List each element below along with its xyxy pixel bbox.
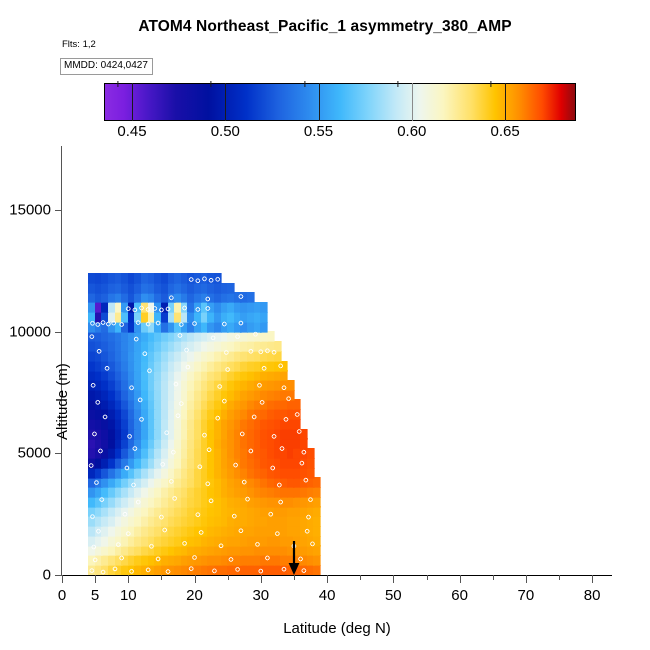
y-tick-label-5000: 5000	[18, 445, 51, 462]
x-minor-tick-25	[228, 575, 229, 580]
x-tick-label-60: 60	[451, 587, 468, 604]
x-tick-label-10: 10	[120, 587, 137, 604]
heatmap-grid	[62, 147, 612, 575]
x-tick-0	[62, 575, 63, 583]
x-minor-tick-55	[427, 575, 428, 580]
x-tick-30	[261, 575, 262, 583]
x-tick-label-40: 40	[319, 587, 336, 604]
colorbar-tick-0.55	[319, 83, 320, 121]
colorbar-label-0.60: 0.60	[397, 123, 426, 140]
x-tick-40	[327, 575, 328, 583]
colorbar-tick-0.65	[505, 83, 506, 121]
x-minor-tick-65	[493, 575, 494, 580]
mmdd-annotation: MMDD: 0424,0427	[60, 58, 153, 75]
y-tick-10000	[55, 332, 62, 333]
chart-title: ATOM4 Northeast_Pacific_1 asymmetry_380_…	[0, 18, 650, 36]
x-tick-70	[526, 575, 527, 583]
y-tick-label-0: 0	[43, 567, 51, 584]
x-tick-label-70: 70	[518, 587, 535, 604]
y-tick-0	[55, 575, 62, 576]
x-minor-tick-45	[360, 575, 361, 580]
latitude-arrow-marker	[288, 541, 300, 575]
heatmap-canvas	[62, 147, 612, 575]
x-tick-20	[195, 575, 196, 583]
colorbar-label-0.45: 0.45	[117, 123, 146, 140]
y-axis-label: Altitude (m)	[54, 363, 71, 440]
colorbar-label-0.55: 0.55	[304, 123, 333, 140]
x-tick-label-20: 20	[186, 587, 203, 604]
colorbar-tick-0.60	[412, 83, 413, 121]
x-tick-5	[95, 575, 96, 583]
y-tick-15000	[55, 210, 62, 211]
colorbar-tick-labels: 0.450.500.550.600.65	[104, 123, 576, 145]
colorbar-label-0.50: 0.50	[211, 123, 240, 140]
x-tick-label-30: 30	[252, 587, 269, 604]
colorbar-tick-0.45	[132, 83, 133, 121]
y-tick-label-10000: 10000	[9, 323, 51, 340]
x-minor-tick-75	[559, 575, 560, 580]
colorbar-tick-0.50	[225, 83, 226, 121]
x-tick-label-0: 0	[58, 587, 66, 604]
colorbar-label-0.65: 0.65	[490, 123, 519, 140]
plot-area: 050001000015000 051020304050607080 Altit…	[62, 147, 612, 575]
flights-annotation: Flts: 1,2	[62, 39, 96, 50]
x-axis-line	[61, 575, 612, 576]
y-tick-5000	[55, 453, 62, 454]
x-axis-label: Latitude (deg N)	[62, 620, 612, 637]
x-tick-10	[128, 575, 129, 583]
y-tick-label-15000: 15000	[9, 202, 51, 219]
x-minor-tick-15	[161, 575, 162, 580]
figure-root: ATOM4 Northeast_Pacific_1 asymmetry_380_…	[0, 0, 650, 650]
x-tick-80	[592, 575, 593, 583]
x-tick-label-80: 80	[584, 587, 601, 604]
x-tick-label-5: 5	[91, 587, 99, 604]
x-tick-50	[393, 575, 394, 583]
x-minor-tick-35	[294, 575, 295, 580]
x-tick-60	[460, 575, 461, 583]
colorbar-tick-lines	[104, 83, 576, 121]
colorbar: 0.450.500.550.600.65	[104, 83, 576, 121]
x-tick-label-50: 50	[385, 587, 402, 604]
